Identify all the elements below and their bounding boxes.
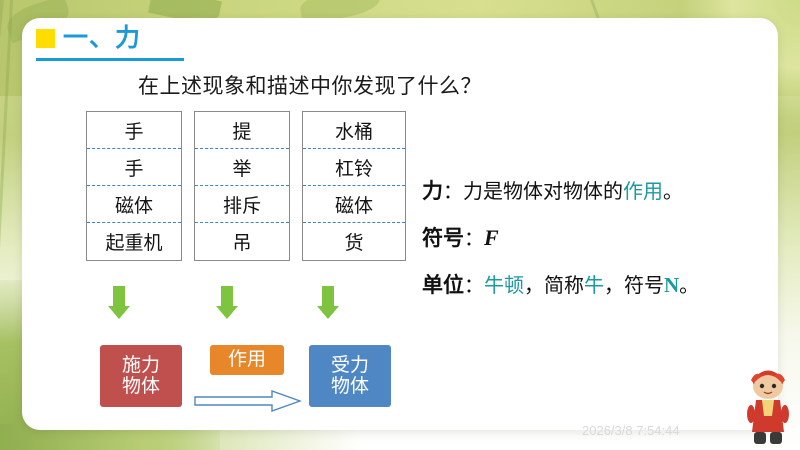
force-label: 力 <box>422 179 443 203</box>
force-highlight: 作用 <box>623 179 663 203</box>
table-cell: 吊 <box>195 223 289 260</box>
symbol-label: 符号 <box>422 226 464 250</box>
object-column: 水桶 杠铃 磁体 货 <box>302 111 406 261</box>
mascot-icon <box>742 370 794 448</box>
force-colon: ： <box>443 179 463 203</box>
source-line-2: 物体 <box>122 375 160 397</box>
arrow-head <box>317 306 339 319</box>
slide: 一、力 在上述现象和描述中你发现了什么？ 手 手 磁体 起重机 提 举 排斥 吊… <box>0 0 800 450</box>
table-cell: 提 <box>195 112 289 149</box>
unit-value-3: N <box>664 273 679 297</box>
arrow-head <box>108 306 130 319</box>
source-object-box: 施力 物体 <box>100 345 182 407</box>
force-text-after: 。 <box>663 179 683 203</box>
symbol-definition: 符号：F <box>422 224 699 252</box>
symbol-value: F <box>484 225 499 250</box>
arrow-down-icon-1 <box>108 286 130 319</box>
target-object-label: 受力 物体 <box>331 355 369 398</box>
target-object-box: 受力 物体 <box>309 345 391 407</box>
unit-end: 。 <box>679 273 699 297</box>
table-cell: 手 <box>87 112 181 149</box>
table-cell: 杠铃 <box>303 149 405 186</box>
table-cell: 磁体 <box>87 186 181 223</box>
action-column: 提 举 排斥 吊 <box>194 111 290 261</box>
unit-definition: 单位：牛顿，简称牛，符号N。 <box>422 272 699 298</box>
definition-block: 力：力是物体对物体的作用。 符号：F 单位：牛顿，简称牛，符号N。 <box>422 178 699 318</box>
action-box: 作用 <box>210 345 284 375</box>
source-line-1: 施力 <box>122 354 160 376</box>
table-cell: 水桶 <box>303 112 405 149</box>
arrow-down-icon-2 <box>216 286 238 319</box>
arrow-stem <box>113 286 125 306</box>
target-line-2: 物体 <box>331 375 369 397</box>
unit-value-1: 牛顿 <box>484 273 524 297</box>
table-cell: 排斥 <box>195 186 289 223</box>
hollow-right-arrow-icon <box>194 390 302 412</box>
unit-sep-2: ，符号 <box>604 273 664 297</box>
unit-label: 单位 <box>422 273 464 297</box>
unit-value-2: 牛 <box>584 273 604 297</box>
symbol-colon: ： <box>464 226 484 250</box>
unit-colon: ： <box>464 273 484 297</box>
subject-column: 手 手 磁体 起重机 <box>86 111 182 261</box>
target-line-1: 受力 <box>331 354 369 376</box>
timestamp-watermark: 2026/3/8 7:54:44 <box>582 423 680 438</box>
arrow-head <box>216 306 238 319</box>
table-cell: 手 <box>87 149 181 186</box>
action-label: 作用 <box>228 349 266 370</box>
table-cell: 举 <box>195 149 289 186</box>
table-cell: 磁体 <box>303 186 405 223</box>
title-text: 一、力 <box>63 26 141 51</box>
question-text: 在上述现象和描述中你发现了什么？ <box>138 70 482 100</box>
arrow-stem <box>322 286 334 306</box>
content-card: 一、力 在上述现象和描述中你发现了什么？ 手 手 磁体 起重机 提 举 排斥 吊… <box>22 18 778 430</box>
title-underline <box>36 58 184 61</box>
force-text-before: 力是物体对物体的 <box>463 179 623 203</box>
slide-title: 一、力 <box>36 26 141 51</box>
arrow-down-icon-3 <box>317 286 339 319</box>
word-table: 手 手 磁体 起重机 提 举 排斥 吊 水桶 杠铃 磁体 货 <box>86 111 406 261</box>
source-object-label: 施力 物体 <box>122 355 160 398</box>
table-cell: 货 <box>303 223 405 260</box>
unit-sep-1: ，简称 <box>524 273 584 297</box>
arrow-stem <box>221 286 233 306</box>
title-square-icon <box>36 29 55 48</box>
force-definition: 力：力是物体对物体的作用。 <box>422 178 699 204</box>
table-cell: 起重机 <box>87 223 181 260</box>
